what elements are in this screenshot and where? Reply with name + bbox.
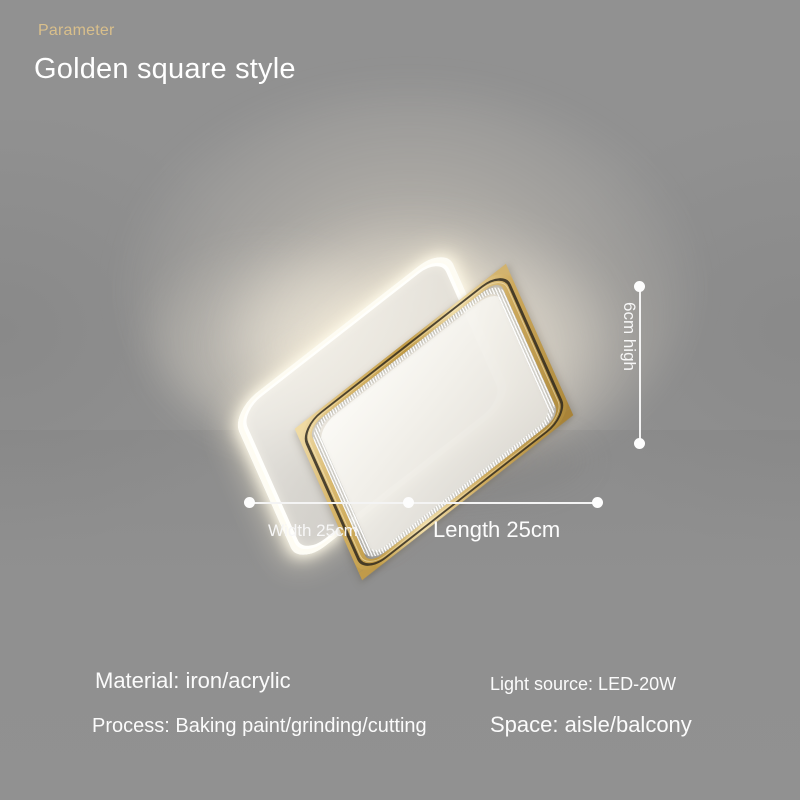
spec-material: Material: iron/acrylic	[95, 668, 291, 694]
dimension-label-height: 6cm high	[619, 302, 639, 371]
parameter-eyebrow: Parameter	[38, 22, 115, 40]
dimension-dot-bottom	[634, 438, 645, 449]
dimension-dot-right	[592, 497, 603, 508]
spec-space: Space: aisle/balcony	[490, 712, 692, 738]
spec-light-source: Light source: LED-20W	[490, 674, 676, 695]
dimension-dot-middle	[403, 497, 414, 508]
dimension-dot-top	[634, 281, 645, 292]
page-title: Golden square style	[34, 53, 296, 86]
dimension-line-horizontal	[249, 502, 598, 504]
spec-process: Process: Baking paint/grinding/cutting	[92, 715, 427, 738]
dimension-dot-left	[244, 497, 255, 508]
dimension-label-length: Length 25cm	[433, 517, 560, 543]
dimension-line-vertical	[639, 288, 641, 443]
dimension-label-width: Width 25cm	[268, 521, 358, 541]
product-parameter-card: Parameter Golden square style Width 25cm…	[0, 0, 800, 800]
ceiling-lamp-image	[200, 248, 640, 488]
